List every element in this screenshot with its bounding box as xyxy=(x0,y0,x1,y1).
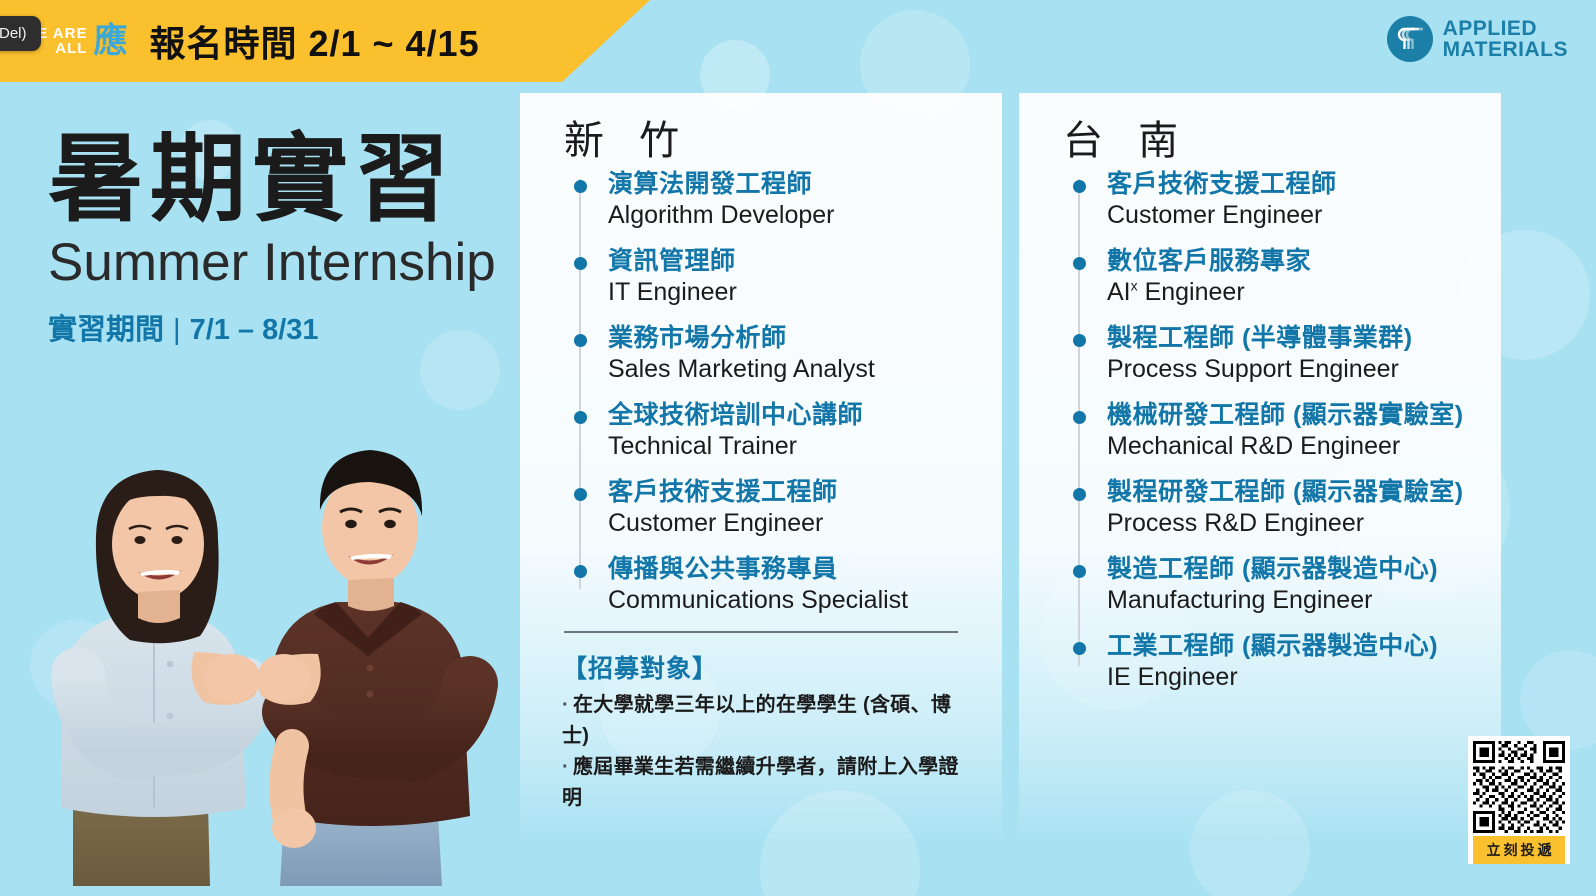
job-title-cn: 傳播與公共事務專員 xyxy=(608,554,976,585)
job-title-en: Algorithm Developer xyxy=(608,200,976,231)
bullet-icon xyxy=(1073,488,1086,501)
internship-period-separator: | xyxy=(173,314,181,346)
job-item[interactable]: 全球技術培訓中心講師 Technical Trainer xyxy=(608,400,976,461)
job-title-cn: 演算法開發工程師 xyxy=(608,169,976,200)
job-title-en: IE Engineer xyxy=(1107,662,1475,693)
we-are-all-glyph: 應 xyxy=(93,24,127,58)
job-title-cn: 全球技術培訓中心講師 xyxy=(608,400,976,431)
person-woman xyxy=(62,470,260,886)
applied-materials-wordmark: APPLIED MATERIALS xyxy=(1443,18,1568,61)
requirements-heading: 【招募對象】 xyxy=(562,649,976,685)
job-title-cn: 製程研發工程師 (顯示器實驗室) xyxy=(1107,477,1475,508)
job-item[interactable]: 客戶技術支援工程師 Customer Engineer xyxy=(608,477,976,538)
job-item[interactable]: 數位客戶服務專家 AIx Engineer xyxy=(1107,246,1475,307)
job-list-tainan: 客戶技術支援工程師 Customer Engineer 數位客戶服務專家 AIx… xyxy=(1071,169,1475,692)
job-title-en: Technical Trainer xyxy=(608,431,976,462)
job-title-en-superscript: x xyxy=(1131,277,1138,293)
job-card-hsinchu: 新 竹 演算法開發工程師 Algorithm Developer 資訊管理師 I… xyxy=(520,93,1002,841)
job-title-cn: 業務市場分析師 xyxy=(608,323,976,354)
bullet-icon xyxy=(1073,411,1086,424)
apply-qr-block[interactable]: 立刻投遞 xyxy=(1468,736,1570,864)
job-item[interactable]: 製程研發工程師 (顯示器實驗室) Process R&D Engineer xyxy=(1107,477,1475,538)
bullet-icon xyxy=(574,488,587,501)
job-title-cn: 工業工程師 (顯示器製造中心) xyxy=(1107,631,1475,662)
job-item[interactable]: 工業工程師 (顯示器製造中心) IE Engineer xyxy=(1107,631,1475,692)
internship-period-value: 7/1 – 8/31 xyxy=(190,314,319,346)
job-item[interactable]: 機械研發工程師 (顯示器實驗室) Mechanical R&D Engineer xyxy=(1107,400,1475,461)
del-tooltip[interactable]: (Del) xyxy=(0,16,41,51)
bullet-icon xyxy=(574,565,587,578)
job-item[interactable]: 客戶技術支援工程師 Customer Engineer xyxy=(1107,169,1475,230)
job-title-en: Customer Engineer xyxy=(608,508,976,539)
job-title-en: AIx Engineer xyxy=(1107,277,1475,308)
registration-deadline-text: 報名時間 2/1 ~ 4/15 xyxy=(149,15,479,67)
job-title-en: Customer Engineer xyxy=(1107,200,1475,231)
internship-period-label: 實習期間 xyxy=(48,314,164,346)
hero-block: 暑期實習 Summer Internship 實習期間|7/1 – 8/31 xyxy=(48,128,518,348)
job-item[interactable]: 資訊管理師 IT Engineer xyxy=(608,246,976,307)
requirement-bullet-icon: · xyxy=(562,756,569,778)
job-title-en: Mechanical R&D Engineer xyxy=(1107,431,1475,462)
job-title-cn: 製造工程師 (顯示器製造中心) xyxy=(1107,554,1475,585)
job-title-en: Process Support Engineer xyxy=(1107,354,1475,385)
job-title-en: Manufacturing Engineer xyxy=(1107,585,1475,616)
job-item[interactable]: 演算法開發工程師 Algorithm Developer xyxy=(608,169,976,230)
timeline-spine xyxy=(579,179,581,589)
apply-now-label[interactable]: 立刻投遞 xyxy=(1473,836,1565,864)
job-title-cn: 客戶技術支援工程師 xyxy=(1107,169,1475,200)
job-title-cn: 機械研發工程師 (顯示器實驗室) xyxy=(1107,400,1475,431)
requirement-item: ·在大學就學三年以上的在學學生 (含碩、博士) xyxy=(562,690,976,752)
job-title-en: Sales Marketing Analyst xyxy=(608,354,976,385)
job-item[interactable]: 製造工程師 (顯示器製造中心) Manufacturing Engineer xyxy=(1107,554,1475,615)
people-photo xyxy=(18,416,504,896)
applied-materials-mark-icon xyxy=(1387,16,1433,62)
requirement-text: 應屆畢業生若需繼續升學者，請附上入學證明 xyxy=(562,756,959,809)
bullet-icon xyxy=(1073,642,1086,655)
requirements-section: 【招募對象】 ·在大學就學三年以上的在學學生 (含碩、博士) ·應屆畢業生若需繼… xyxy=(562,649,976,814)
internship-period: 實習期間|7/1 – 8/31 xyxy=(48,306,518,348)
bullet-icon xyxy=(1073,565,1086,578)
qr-code-image[interactable] xyxy=(1473,741,1565,833)
bullet-icon xyxy=(1073,334,1086,347)
job-title-en: Communications Specialist xyxy=(608,585,976,616)
bullet-icon xyxy=(1073,180,1086,193)
job-item[interactable]: 業務市場分析師 Sales Marketing Analyst xyxy=(608,323,976,384)
job-title-cn: 客戶技術支援工程師 xyxy=(608,477,976,508)
page-title-en: Summer Internship xyxy=(48,234,518,292)
person-man xyxy=(257,450,470,886)
job-title-en-tail: Engineer xyxy=(1138,278,1245,306)
job-title-cn: 製程工程師 (半導體事業群) xyxy=(1107,323,1475,354)
bullet-icon xyxy=(574,180,587,193)
requirement-bullet-icon: · xyxy=(562,694,569,716)
job-card-tainan: 台 南 客戶技術支援工程師 Customer Engineer 數位客戶服務專家… xyxy=(1019,93,1501,841)
brand-line-1: APPLIED xyxy=(1443,18,1568,39)
card-title-tainan: 台 南 xyxy=(1063,119,1475,163)
job-title-en: Process R&D Engineer xyxy=(1107,508,1475,539)
requirement-item: ·應屆畢業生若需繼續升學者，請附上入學證明 xyxy=(562,752,976,814)
page-title-cn: 暑期實習 xyxy=(48,128,518,232)
applied-materials-logo: APPLIED MATERIALS xyxy=(1387,16,1568,62)
section-divider xyxy=(564,631,958,633)
job-title-cn: 資訊管理師 xyxy=(608,246,976,277)
job-title-en: IT Engineer xyxy=(608,277,976,308)
bullet-icon xyxy=(574,334,587,347)
job-title-cn: 數位客戶服務專家 xyxy=(1107,246,1475,277)
poster-root: WE ARE ALL 應 報名時間 2/1 ~ 4/15 (Del) APPLI… xyxy=(0,0,1596,896)
bullet-icon xyxy=(574,257,587,270)
bullet-icon xyxy=(1073,257,1086,270)
brand-line-2: MATERIALS xyxy=(1443,39,1568,60)
card-title-hsinchu: 新 竹 xyxy=(564,119,976,163)
we-are-all-line2: ALL xyxy=(55,40,87,57)
job-title-en-base: AI xyxy=(1107,278,1131,306)
bullet-icon xyxy=(574,411,587,424)
registration-banner: WE ARE ALL 應 報名時間 2/1 ~ 4/15 xyxy=(0,0,650,82)
job-item[interactable]: 製程工程師 (半導體事業群) Process Support Engineer xyxy=(1107,323,1475,384)
job-item[interactable]: 傳播與公共事務專員 Communications Specialist xyxy=(608,554,976,615)
requirement-text: 在大學就學三年以上的在學學生 (含碩、博士) xyxy=(562,694,951,747)
job-list-hsinchu: 演算法開發工程師 Algorithm Developer 資訊管理師 IT En… xyxy=(572,169,976,615)
